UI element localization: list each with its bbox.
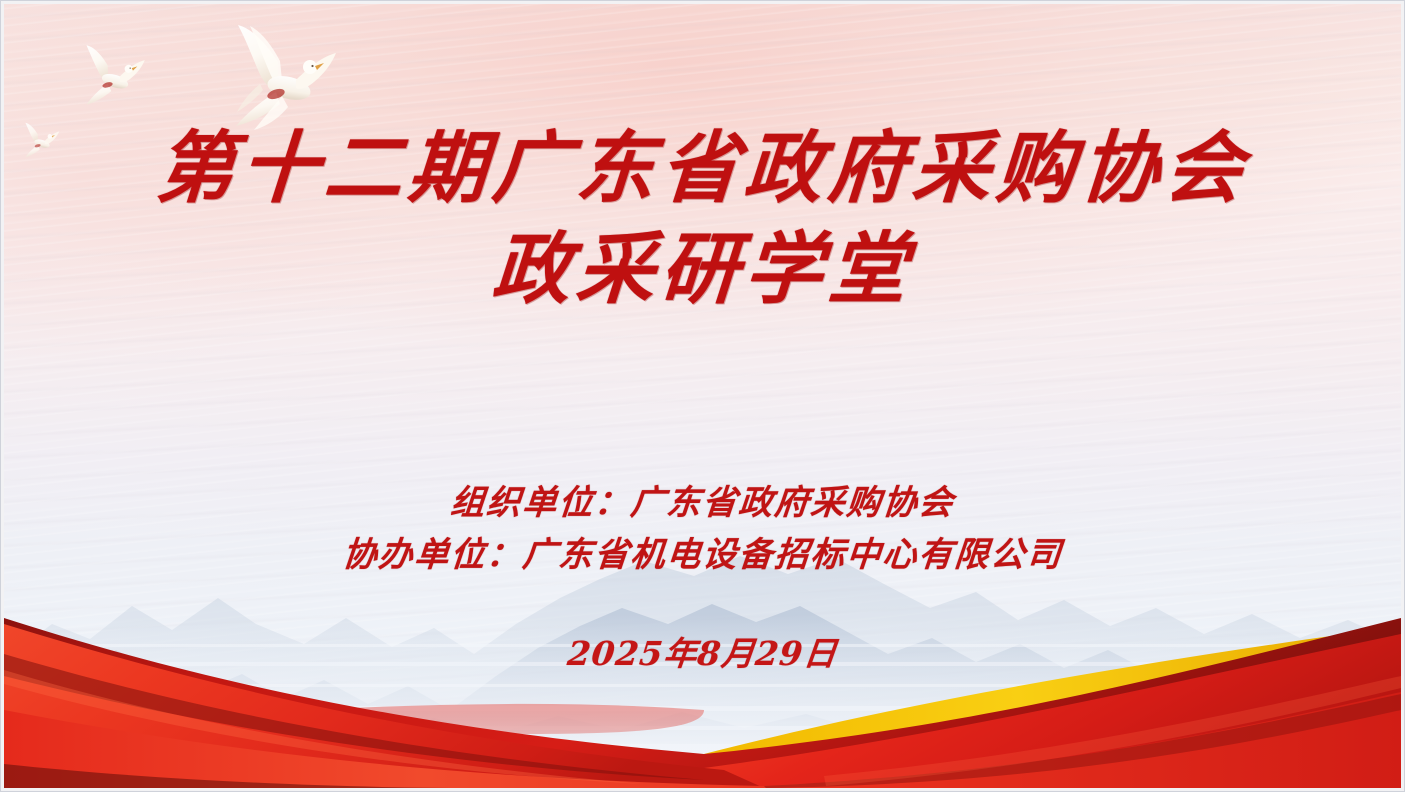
organizer-info: 组织单位：广东省政府采购协会 协办单位：广东省机电设备招标中心有限公司 [0, 478, 1405, 581]
organizer-line-2: 协办单位：广东省机电设备招标中心有限公司 [0, 530, 1405, 582]
slide-title: 第十二期广东省政府采购协会 政采研学堂 [0, 118, 1405, 321]
organizer-line-1: 组织单位：广东省政府采购协会 [0, 478, 1405, 530]
title-line-1: 第十二期广东省政府采购协会 [0, 118, 1405, 219]
title-line-2: 政采研学堂 [0, 219, 1405, 320]
slide-date: 2025年8月29日 [0, 627, 1405, 675]
dove-medium [86, 45, 144, 105]
presentation-slide: 第十二期广东省政府采购协会 政采研学堂 组织单位：广东省政府采购协会 协办单位：… [0, 0, 1405, 792]
date-text: 2025年8月29日 [565, 627, 840, 675]
dove-large [236, 25, 336, 130]
